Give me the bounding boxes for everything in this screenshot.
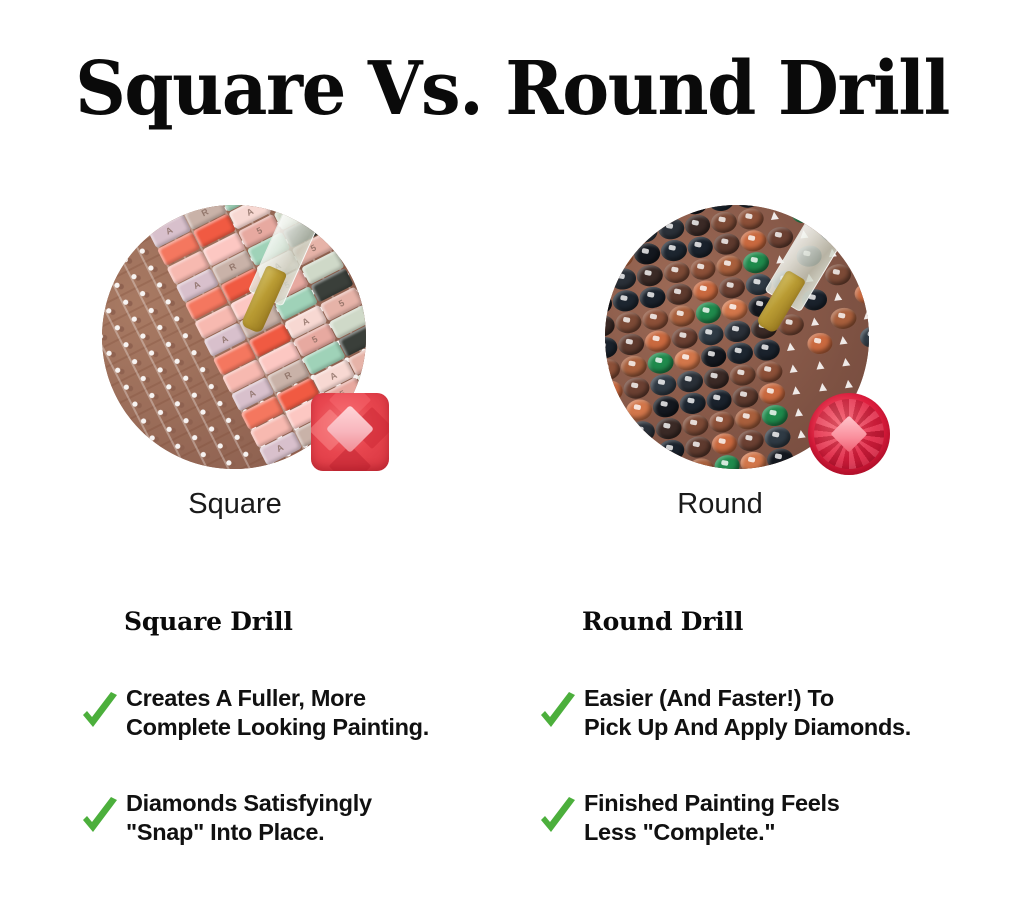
round-bead [606, 245, 634, 269]
round-bead [713, 232, 741, 256]
square-drill-column: Square Drill Creates A Fuller, More Comp… [80, 607, 510, 847]
round-bead [649, 373, 677, 397]
round-bead [702, 366, 730, 390]
square-drill-heading: Square Drill [124, 607, 510, 637]
round-drill-column: Round Drill Easier (And Faster!) To Pick… [538, 607, 968, 847]
round-bead [859, 325, 869, 349]
round-bead [605, 205, 629, 225]
round-bead [605, 292, 613, 316]
round-bead [659, 238, 687, 262]
round-bead [694, 301, 722, 325]
round-bead [758, 381, 786, 405]
round-bead [605, 379, 624, 403]
round-bead [620, 354, 648, 378]
bullet-text: Diamonds Satisfyingly "Snap" Into Place. [126, 789, 372, 847]
round-bead [864, 368, 869, 392]
canvas-arrow-symbol [844, 379, 853, 388]
round-bead [784, 378, 812, 402]
round-bead [766, 225, 794, 249]
round-bead [710, 210, 738, 234]
round-bead [699, 344, 727, 368]
square-photo-caption: Square [25, 487, 445, 521]
round-bead [697, 322, 725, 346]
round-bead [686, 457, 714, 469]
bullet-text: Finished Painting Feels Less "Complete." [584, 789, 840, 847]
round-bead [633, 242, 661, 266]
list-item: Easier (And Faster!) To Pick Up And Appl… [538, 684, 968, 742]
round-bead [779, 335, 807, 359]
round-bead [835, 350, 863, 374]
round-bead [641, 307, 669, 331]
list-item: Creates A Fuller, More Complete Looking … [80, 684, 510, 742]
bullet-text: Creates A Fuller, More Complete Looking … [126, 684, 429, 742]
round-bead [766, 447, 794, 469]
round-bead [657, 438, 685, 462]
round-bead [628, 420, 656, 444]
canvas-arrow-symbol [788, 364, 797, 373]
round-bead [851, 259, 869, 283]
round-bead [605, 223, 632, 247]
canvas-arrow-symbol [796, 429, 805, 438]
round-bead [609, 267, 637, 291]
round-bead [660, 460, 688, 469]
round-bead [726, 341, 754, 365]
list-item: Finished Painting Feels Less "Complete." [538, 789, 968, 847]
round-bead [763, 425, 791, 449]
round-bead [670, 326, 698, 350]
round-photo-cell [596, 203, 896, 473]
round-bead [853, 281, 869, 305]
round-bead [673, 348, 701, 372]
round-bead [630, 220, 658, 244]
round-bead [681, 413, 709, 437]
canvas-arrow-symbol [815, 360, 824, 369]
comparison-photo-row: A5A55GARRA5A55GARRA5A55GARRA5A55GARRA5A5… [0, 203, 1024, 473]
round-photo-caption: Round [510, 487, 930, 521]
round-bead [808, 353, 836, 377]
round-bead [633, 463, 661, 469]
canvas-arrow-symbol [839, 335, 848, 344]
round-bead [617, 332, 645, 356]
round-bead [803, 309, 831, 333]
check-icon [80, 691, 120, 735]
round-bead [631, 441, 659, 465]
round-bead [824, 262, 852, 286]
canvas-arrow-symbol [791, 386, 800, 395]
round-bead [605, 423, 629, 447]
round-bead [837, 372, 865, 396]
round-bead [691, 279, 719, 303]
canvas-arrow-symbol [770, 211, 779, 220]
canvas-arrow-symbol [786, 342, 795, 351]
round-bead [657, 217, 685, 241]
round-bead [713, 453, 741, 469]
round-bead [861, 347, 869, 371]
round-bead [721, 297, 749, 321]
round-bead [605, 335, 619, 359]
round-bead [654, 416, 682, 440]
round-bead [734, 407, 762, 431]
round-bead [628, 205, 656, 222]
round-bead [605, 357, 621, 381]
round-bead [848, 237, 869, 261]
canvas-arrow-symbol [799, 451, 808, 460]
round-bead [684, 435, 712, 459]
check-icon [80, 796, 120, 840]
round-bead [681, 205, 709, 215]
square-photo-cell: A5A55GARRA5A55GARRA5A55GARRA5A55GARRA5A5… [93, 203, 393, 473]
round-bead [654, 205, 682, 219]
round-bead [755, 360, 783, 384]
round-bead [652, 394, 680, 418]
bullet-text: Easier (And Faster!) To Pick Up And Appl… [584, 684, 911, 742]
canvas-arrow-symbol [833, 292, 842, 301]
round-bead [763, 205, 791, 227]
round-bead [829, 306, 857, 330]
round-bead [605, 314, 616, 338]
canvas-arrow-symbol [810, 317, 819, 326]
round-bead [739, 450, 767, 469]
list-item: Diamonds Satisfyingly "Snap" Into Place. [80, 789, 510, 847]
canvas-arrow-symbol [794, 407, 803, 416]
round-bead [705, 388, 733, 412]
round-bead [729, 363, 757, 387]
round-bead [612, 289, 640, 313]
round-bead [737, 428, 765, 452]
canvas-arrow-symbol [863, 310, 869, 319]
round-bead [622, 376, 650, 400]
round-bead [707, 410, 735, 434]
canvas-arrow-symbol [818, 382, 827, 391]
round-bead [742, 250, 770, 274]
round-bead [636, 263, 664, 287]
round-bead [686, 235, 714, 259]
check-icon [538, 691, 578, 735]
square-gem-swatch [311, 393, 389, 471]
round-bead [718, 276, 746, 300]
round-bead [667, 304, 695, 328]
round-bead [662, 260, 690, 284]
round-bead [646, 351, 674, 375]
round-bead [782, 356, 810, 380]
round-drill-heading: Round Drill [582, 607, 968, 637]
round-bead [832, 328, 860, 352]
round-bead [723, 319, 751, 343]
round-bead [806, 331, 834, 355]
round-bead [827, 284, 855, 308]
round-bead [676, 369, 704, 393]
round-gem-swatch [808, 393, 890, 475]
round-bead [625, 398, 653, 422]
round-bead [638, 285, 666, 309]
round-bead [856, 303, 869, 327]
round-bead [683, 213, 711, 237]
canvas-arrow-symbol [868, 354, 869, 363]
round-bead [689, 257, 717, 281]
round-bead [760, 403, 788, 427]
canvas-arrow-symbol [841, 357, 850, 366]
round-bead [715, 254, 743, 278]
canvas-arrow-symbol [857, 267, 866, 276]
round-bead [678, 391, 706, 415]
round-bead [710, 432, 738, 456]
round-bead [731, 385, 759, 409]
round-bead [736, 207, 764, 231]
round-bead [614, 310, 642, 334]
round-bead [665, 282, 693, 306]
round-bead [605, 445, 632, 469]
check-icon [538, 796, 578, 840]
round-bead [739, 229, 767, 253]
round-bead [644, 329, 672, 353]
round-bead [605, 401, 627, 425]
page-title: Square Vs. Round Drill [26, 47, 999, 131]
round-bead [752, 338, 780, 362]
